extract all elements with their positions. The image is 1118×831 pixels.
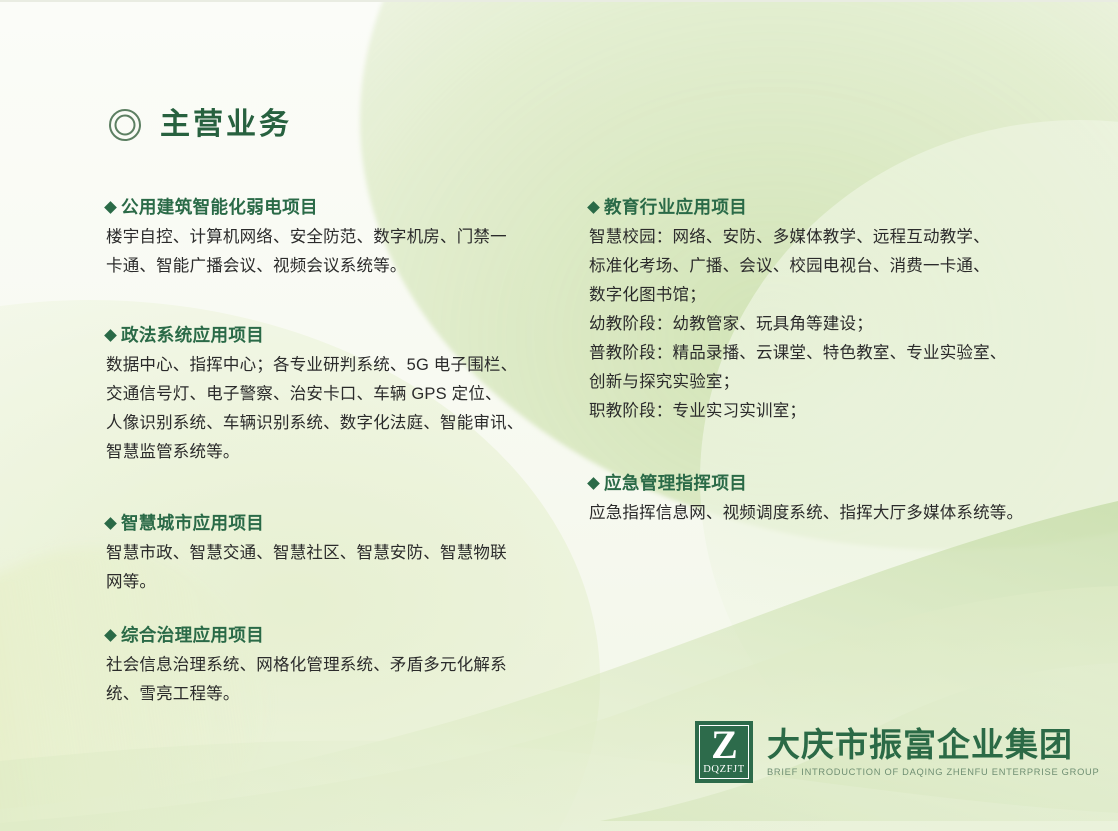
diamond-bullet-icon: [104, 629, 117, 642]
body-line: 网等。: [106, 568, 507, 597]
block-heading-label: 智慧城市应用项目: [121, 512, 264, 535]
diamond-bullet-icon: [587, 477, 600, 490]
body-line: 智慧校园：网络、安防、多媒体教学、远程互动教学、: [589, 223, 1007, 252]
block-heading-label: 应急管理指挥项目: [604, 472, 747, 495]
diamond-bullet-icon: [104, 517, 117, 530]
block-body: 智慧市政、智慧交通、智慧社区、智慧安防、智慧物联 网等。: [106, 539, 507, 597]
company-name-cn: 大庆市振富企业集团: [767, 727, 1099, 763]
body-line: 职教阶段：专业实习实训室；: [589, 397, 1007, 426]
body-line: 社会信息治理系统、网格化管理系统、矛盾多元化解系: [106, 651, 507, 680]
body-line: 卡通、智能广播会议、视频会议系统等。: [106, 252, 507, 281]
block-heading-label: 综合治理应用项目: [121, 624, 264, 647]
block-comprehensive-governance: 综合治理应用项目 社会信息治理系统、网格化管理系统、矛盾多元化解系 统、雪亮工程…: [106, 624, 507, 709]
block-heading: 公用建筑智能化弱电项目: [106, 196, 507, 219]
block-body: 社会信息治理系统、网格化管理系统、矛盾多元化解系 统、雪亮工程等。: [106, 651, 507, 709]
body-line: 交通信号灯、电子警察、治安卡口、车辆 GPS 定位、: [106, 380, 524, 409]
slide-page: 主营业务 公用建筑智能化弱电项目 楼宇自控、计算机网络、安全防范、数字机房、门禁…: [0, 0, 1118, 831]
block-body: 楼宇自控、计算机网络、安全防范、数字机房、门禁一 卡通、智能广播会议、视频会议系…: [106, 223, 507, 281]
body-line: 创新与探究实验室；: [589, 368, 1007, 397]
logo-monogram: Z: [711, 726, 737, 764]
body-line: 普教阶段：精品录播、云课堂、特色教室、专业实验室、: [589, 339, 1007, 368]
company-logo: Z DQZFJT 大庆市振富企业集团 BRIEF INTRODUCTION OF…: [695, 721, 1099, 783]
body-line: 智慧市政、智慧交通、智慧社区、智慧安防、智慧物联: [106, 539, 507, 568]
block-heading-label: 教育行业应用项目: [604, 196, 747, 219]
block-heading: 智慧城市应用项目: [106, 512, 507, 535]
block-emergency-management: 应急管理指挥项目 应急指挥信息网、视频调度系统、指挥大厅多媒体系统等。: [589, 472, 1023, 528]
body-line: 人像识别系统、车辆识别系统、数字化法庭、智能审讯、: [106, 409, 524, 438]
block-public-building: 公用建筑智能化弱电项目 楼宇自控、计算机网络、安全防范、数字机房、门禁一 卡通、…: [106, 196, 507, 281]
block-body: 数据中心、指挥中心；各专业研判系统、5G 电子围栏、 交通信号灯、电子警察、治安…: [106, 351, 524, 467]
block-heading-label: 政法系统应用项目: [121, 324, 264, 347]
block-politics-law: 政法系统应用项目 数据中心、指挥中心；各专业研判系统、5G 电子围栏、 交通信号…: [106, 324, 524, 467]
logo-text: 大庆市振富企业集团 BRIEF INTRODUCTION OF DAQING Z…: [767, 721, 1099, 779]
block-smart-city: 智慧城市应用项目 智慧市政、智慧交通、智慧社区、智慧安防、智慧物联 网等。: [106, 512, 507, 597]
block-body: 应急指挥信息网、视频调度系统、指挥大厅多媒体系统等。: [589, 499, 1023, 528]
logo-mark-icon: Z DQZFJT: [695, 721, 753, 783]
diamond-bullet-icon: [104, 329, 117, 342]
company-name-en: BRIEF INTRODUCTION OF DAQING ZHENFU ENTE…: [767, 765, 1099, 779]
body-line: 数字化图书馆；: [589, 281, 1007, 310]
content-columns: 公用建筑智能化弱电项目 楼宇自控、计算机网络、安全防范、数字机房、门禁一 卡通、…: [0, 0, 1118, 831]
block-heading: 政法系统应用项目: [106, 324, 524, 347]
body-line: 应急指挥信息网、视频调度系统、指挥大厅多媒体系统等。: [589, 499, 1023, 528]
body-line: 统、雪亮工程等。: [106, 680, 507, 709]
body-line: 幼教阶段：幼教管家、玩具角等建设；: [589, 310, 1007, 339]
block-education: 教育行业应用项目 智慧校园：网络、安防、多媒体教学、远程互动教学、 标准化考场、…: [589, 196, 1007, 426]
block-body: 智慧校园：网络、安防、多媒体教学、远程互动教学、 标准化考场、广播、会议、校园电…: [589, 223, 1007, 426]
diamond-bullet-icon: [587, 201, 600, 214]
diamond-bullet-icon: [104, 201, 117, 214]
body-line: 楼宇自控、计算机网络、安全防范、数字机房、门禁一: [106, 223, 507, 252]
body-line: 数据中心、指挥中心；各专业研判系统、5G 电子围栏、: [106, 351, 524, 380]
block-heading-label: 公用建筑智能化弱电项目: [121, 196, 318, 219]
logo-abbreviation: DQZFJT: [703, 764, 745, 776]
block-heading: 应急管理指挥项目: [589, 472, 1023, 495]
body-line: 智慧监管系统等。: [106, 438, 524, 467]
body-line: 标准化考场、广播、会议、校园电视台、消费一卡通、: [589, 252, 1007, 281]
block-heading: 教育行业应用项目: [589, 196, 1007, 219]
block-heading: 综合治理应用项目: [106, 624, 507, 647]
